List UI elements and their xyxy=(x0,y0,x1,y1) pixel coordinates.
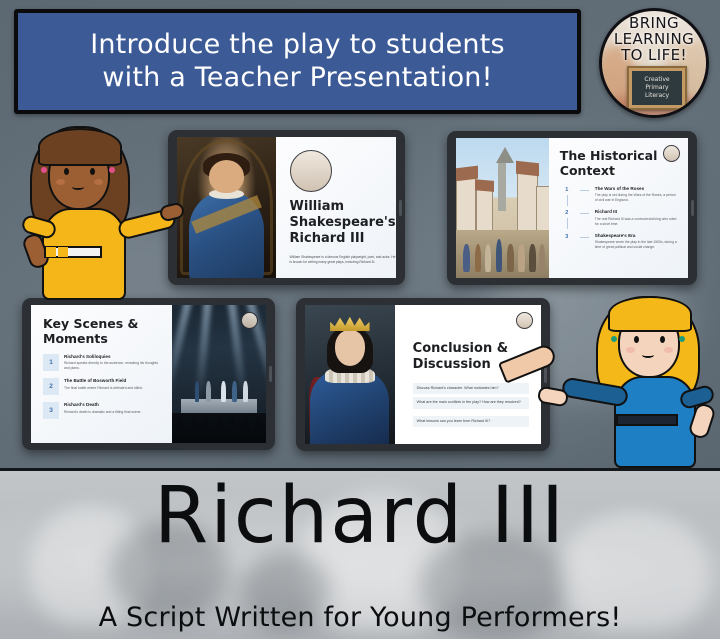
logo-line-2: LEARNING xyxy=(602,31,706,47)
banner-text: Introduce the play to students with a Te… xyxy=(82,29,513,95)
slide-title: William Shakespeare's Richard III xyxy=(290,199,396,247)
question-item: What lessons can you learn from Richard … xyxy=(413,416,529,428)
logo-text: BRING LEARNING TO LIFE! xyxy=(602,15,706,64)
item-heading: The Wars of the Roses xyxy=(595,186,677,192)
slide-title: The Historical Context xyxy=(560,148,677,179)
question-item: Discuss Richard's character. What motiva… xyxy=(413,383,529,395)
top-section: Introduce the play to students with a Te… xyxy=(0,0,720,468)
slide-title-line-2: Richard III xyxy=(290,231,365,246)
item-number: 1 xyxy=(43,354,59,371)
slide-logo-icon xyxy=(516,312,533,329)
slide-logo-icon xyxy=(241,312,258,329)
slide-title-line-1: William Shakespeare's xyxy=(290,199,396,230)
theatre-stage-image xyxy=(172,305,266,443)
item-number: 1 xyxy=(560,186,574,193)
item-number: 2 xyxy=(560,209,574,216)
medieval-town-image xyxy=(456,138,549,278)
slide-preview-historical-context[interactable]: The Historical Context 1 The Wars of the… xyxy=(447,131,697,285)
item-heading: Richard III xyxy=(595,209,677,215)
item-text: The play is set during the Wars of the R… xyxy=(595,193,677,203)
brand-logo-badge: BRING LEARNING TO LIFE! Creative Primary… xyxy=(599,8,709,118)
chalk-line-2: Primary xyxy=(645,84,668,92)
slide-title: Key Scenes & Moments xyxy=(43,316,160,347)
shakespeare-portrait-image xyxy=(177,137,276,278)
item-text: The final battle where Richard is defeat… xyxy=(64,386,160,391)
item-text: Richard speaks directly to the audience,… xyxy=(64,361,160,371)
footer-title-section: Richard III A Script Written for Young P… xyxy=(0,468,720,639)
item-heading: Shakespeare's Era xyxy=(595,233,677,239)
item-text: Shakespeare wrote the play in the late 1… xyxy=(595,240,677,250)
banner-line-1: Introduce the play to students xyxy=(90,29,505,60)
item-text: Richard's death is dramatic and a fittin… xyxy=(64,410,160,415)
item-number: 3 xyxy=(43,402,59,419)
list-item: 2 Richard III The real Richard III was a… xyxy=(560,209,677,227)
list-item: 3 Richard's Death Richard's death is dra… xyxy=(43,402,160,419)
item-number: 2 xyxy=(43,378,59,395)
slide-body-text: William Shakespeare is a famous English … xyxy=(290,255,396,265)
logo-line-3: TO LIFE! xyxy=(602,47,706,63)
item-heading: Richard's Death xyxy=(64,402,160,408)
list-item: 3 Shakespeare's Era Shakespeare wrote th… xyxy=(560,233,677,251)
slide-logo-icon xyxy=(663,145,680,162)
list-item: 1 The Wars of the Roses The play is set … xyxy=(560,186,677,204)
list-item: 1 Richard's Soliloquies Richard speaks d… xyxy=(43,354,160,372)
king-richard-image xyxy=(305,305,395,444)
list-item: 2 The Battle of Bosworth Field The final… xyxy=(43,378,160,395)
chalk-line-1: Creative xyxy=(644,76,669,84)
teacher-right-illustration xyxy=(552,292,720,464)
item-heading: Richard's Soliloquies xyxy=(64,354,160,360)
logo-line-1: BRING xyxy=(602,15,706,31)
product-title: Richard III xyxy=(0,476,720,558)
item-heading: The Battle of Bosworth Field xyxy=(64,378,160,384)
slide-logo-icon xyxy=(290,150,332,192)
product-cover-image: Introduce the play to students with a Te… xyxy=(0,0,720,639)
product-subtitle: A Script Written for Young Performers! xyxy=(0,602,720,633)
chalkboard-icon: Creative Primary Literacy xyxy=(627,66,687,110)
numbered-list: 1 Richard's Soliloquies Richard speaks d… xyxy=(43,354,160,420)
slide-preview-title[interactable]: William Shakespeare's Richard III Willia… xyxy=(168,130,405,285)
item-text: The real Richard III was a controversial… xyxy=(595,217,677,227)
discussion-questions: Discuss Richard's character. What motiva… xyxy=(413,383,529,428)
teacher-left-illustration xyxy=(8,122,173,297)
slide-preview-key-scenes[interactable]: Key Scenes & Moments 1 Richard's Soliloq… xyxy=(22,298,275,450)
chalk-line-3: Literacy xyxy=(645,92,669,100)
numbered-list: 1 The Wars of the Roses The play is set … xyxy=(560,186,677,251)
question-item: What are the main conflicts in the play?… xyxy=(413,397,529,409)
banner-line-2: with a Teacher Presentation! xyxy=(90,62,505,95)
header-banner: Introduce the play to students with a Te… xyxy=(14,9,581,114)
item-number: 3 xyxy=(560,233,574,240)
